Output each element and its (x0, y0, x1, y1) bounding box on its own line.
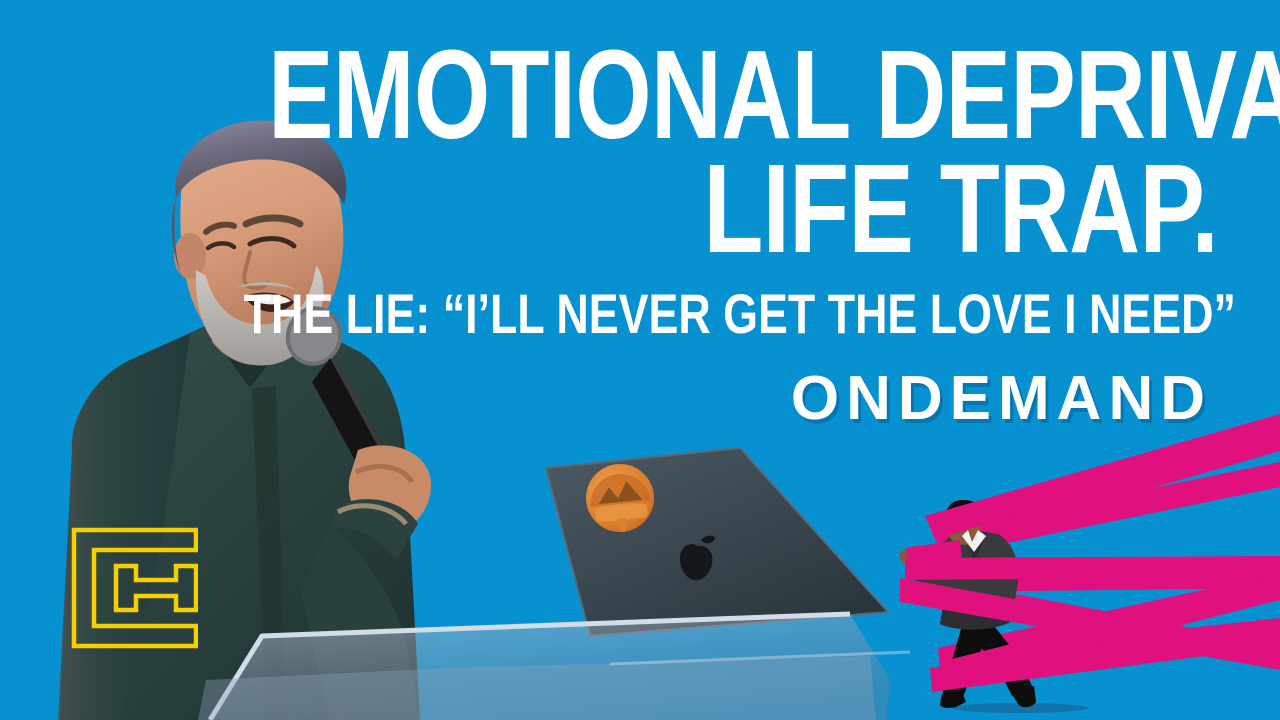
ondemand-badge: ONDEMAND (0, 368, 1218, 430)
subtitle-line: THE LIE: “I’LL NEVER GET THE LOVE I NEED… (244, 286, 1218, 342)
promo-graphic: EMOTIONAL DEPRIVATION LIFE TRAP. THE LIE… (0, 0, 1280, 720)
ch-monogram-logo (70, 526, 198, 650)
title-line-1: EMOTIONAL DEPRIVATION (268, 0, 1218, 156)
logo-strokes (74, 530, 196, 646)
lectern (150, 560, 910, 720)
man-ear (962, 522, 970, 530)
headline-block: EMOTIONAL DEPRIVATION LIFE TRAP. THE LIE… (0, 0, 1280, 470)
trapped-man-illustration (900, 500, 1120, 720)
title-line-2: LIFE TRAP. (268, 148, 1218, 270)
logo-letter-h (116, 566, 196, 610)
logo-letter-c (74, 530, 196, 646)
